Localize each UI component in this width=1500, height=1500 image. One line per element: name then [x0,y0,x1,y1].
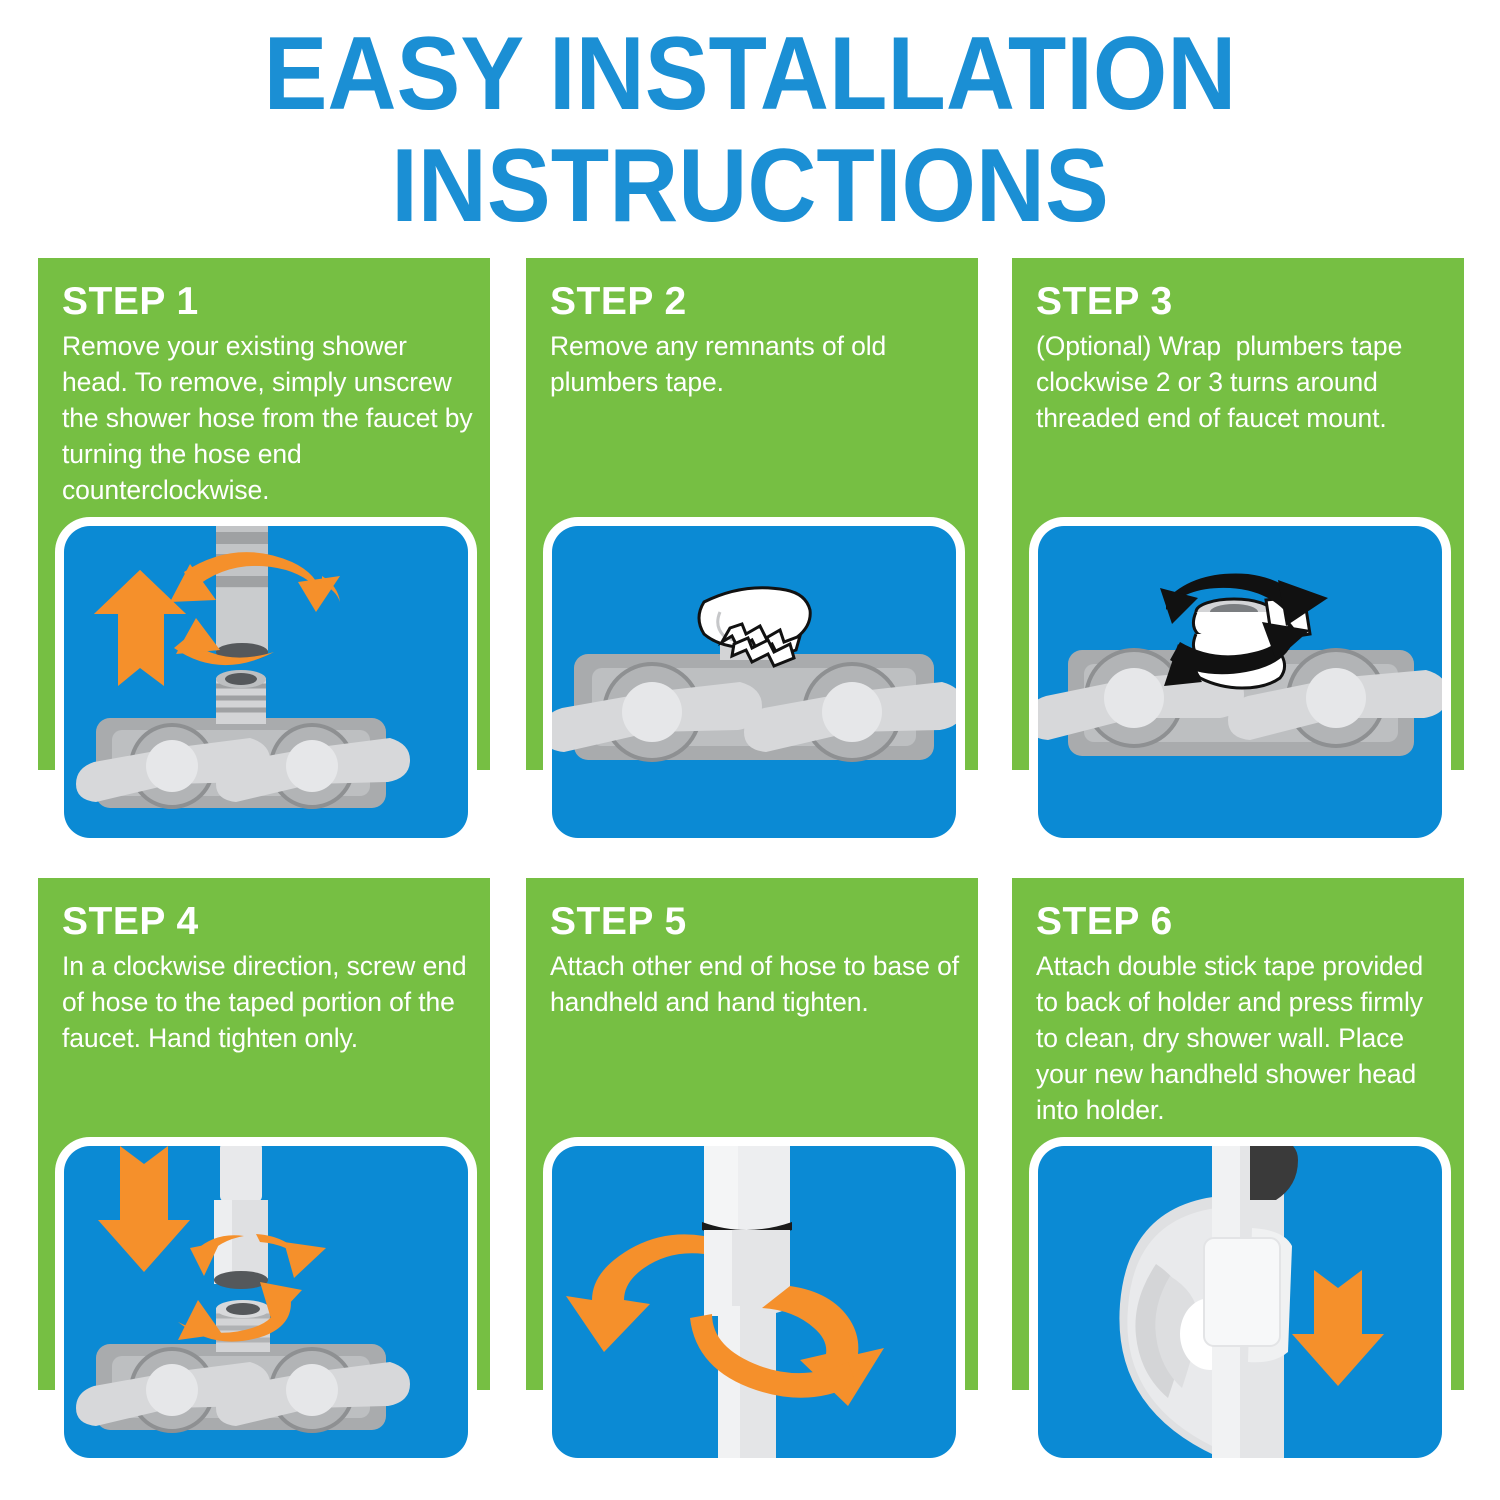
steps-grid: STEP 1 Remove your existing shower head.… [0,0,1500,1500]
step-card-4-body: In a clockwise direction, screw end of h… [62,948,478,1056]
up-arrow-icon [94,570,186,686]
threaded-spout-icon [216,670,266,724]
step-card-5-illustration [552,1146,956,1458]
step-card-3-body: (Optional) Wrap plumbers tape clockwise … [1036,328,1452,436]
step-card-4-illustration [64,1146,468,1458]
step-card-6-illustration [1038,1146,1442,1458]
step-card-1-body: Remove your existing shower head. To rem… [62,328,478,508]
step-card-2-illustration [552,526,956,838]
step-card-5-body: Attach other end of hose to base of hand… [550,948,966,1020]
step-card-5-heading: STEP 5 [550,900,687,944]
infographic-page: EASY INSTALLATION INSTRUCTIONS STEP 1 Re… [0,0,1500,1500]
step-card-4-heading: STEP 4 [62,900,199,944]
step-card-2-body: Remove any remnants of old plumbers tape… [550,328,966,400]
faucet-icon [76,1300,410,1431]
down-arrow-icon [98,1146,190,1272]
step-card-6-body: Attach double stick tape provided to bac… [1036,948,1452,1128]
down-arrow-icon [1292,1270,1384,1386]
step-card-3-heading: STEP 3 [1036,280,1173,324]
step-card-1-illustration [64,526,468,838]
step-card-3-illustration [1038,526,1442,838]
step-card-2-heading: STEP 2 [550,280,687,324]
step-card-1-heading: STEP 1 [62,280,199,324]
shower-hose-icon [214,1146,268,1289]
step-card-6-heading: STEP 6 [1036,900,1173,944]
double-stick-tape-icon [1204,1238,1280,1346]
shower-hose-icon [216,526,268,661]
faucet-icon [76,670,410,808]
